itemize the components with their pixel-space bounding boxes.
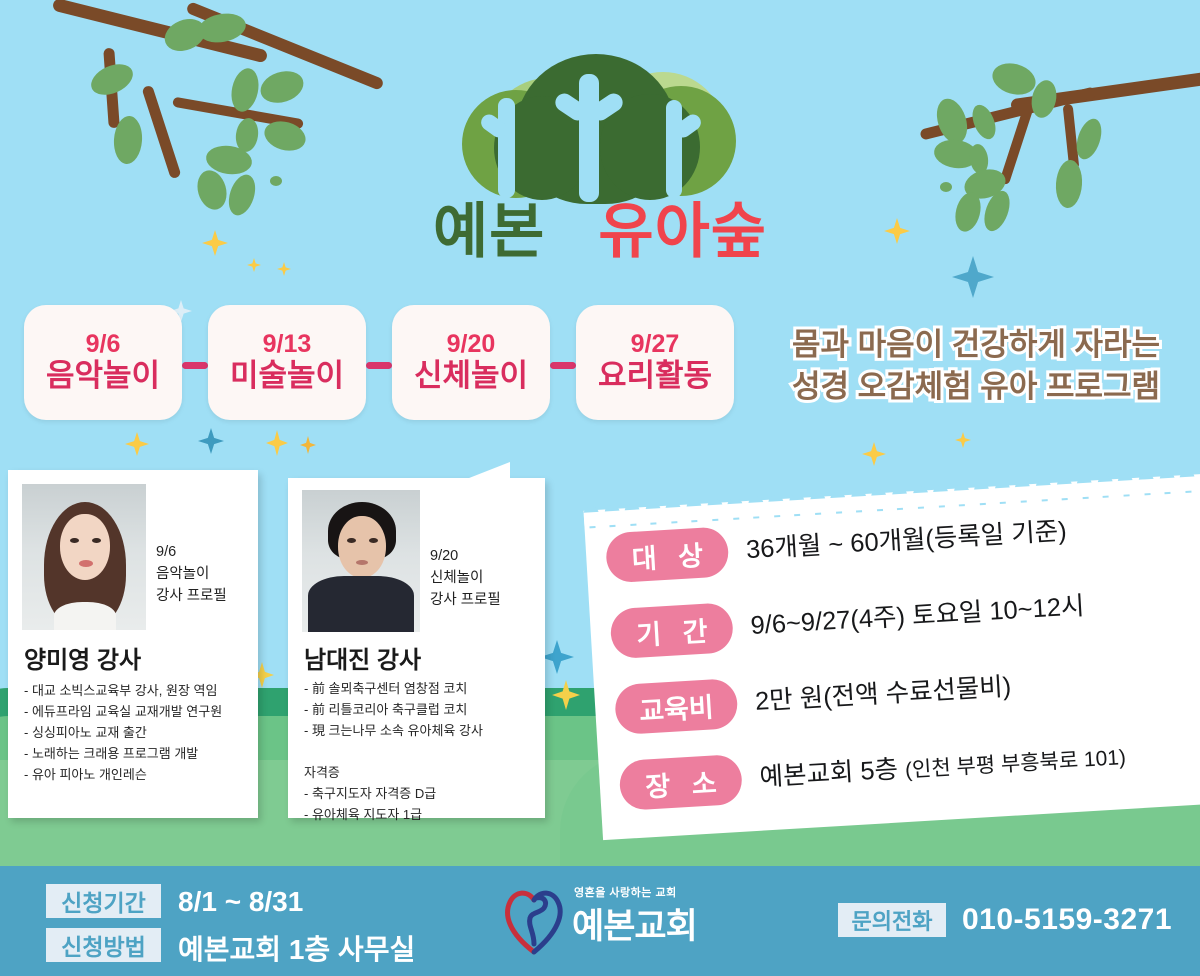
schedule-card-date: 9/13 [263, 332, 312, 357]
info-label-place: 장 소 [618, 754, 743, 811]
apply-period-label: 신청기간 [46, 884, 161, 918]
heart-cross-icon [500, 880, 570, 958]
tagline-line-2: 성경 오감체험 유아 프로그램 [770, 366, 1182, 408]
instructor-subject: 신체놀이 [430, 568, 534, 590]
sparkle-icon [247, 258, 261, 272]
info-label-fee: 교육비 [614, 678, 739, 735]
instructor-meta-1: 9/6 음악놀이 강사 프로필 [156, 542, 254, 607]
schedule-row: 9/6 음악놀이 9/13 미술놀이 9/20 신체놀이 9/27 요리활동 [24, 305, 736, 420]
apply-method-label: 신청방법 [46, 928, 161, 962]
schedule-card-date: 9/27 [631, 332, 680, 357]
sparkle-icon [540, 640, 574, 674]
instructor-bullets-1: - 대교 소빅스교육부 강사, 원장 역임 - 에듀프라임 교육실 교재개발 연… [24, 680, 248, 785]
sparkle-icon [125, 432, 149, 456]
schedule-card[interactable]: 9/13 미술놀이 [208, 305, 366, 420]
schedule-card[interactable]: 9/27 요리활동 [576, 305, 734, 420]
sparkle-icon [198, 428, 224, 454]
poster-canvas: 예본 유아숲 9/6 음악놀이 9/13 미술놀이 9/20 신체놀이 9/27… [0, 0, 1200, 976]
instructor-card-2[interactable]: 9/20 신체놀이 강사 프로필 남대진 강사 - 前 솔뫼축구센터 염창점 코… [288, 478, 545, 818]
logo-wordmark: 예본 유아숲 [430, 202, 770, 262]
photo-mouth [79, 560, 93, 567]
trunk-cutout-right [666, 100, 682, 198]
schedule-card-date: 9/20 [447, 332, 496, 357]
photo-body [54, 602, 116, 630]
info-value-period: 9/6~9/27(4주) 토요일 10~12시 [749, 585, 1085, 642]
tagline-line-1: 몸과 마음이 건강하게 자라는 [770, 324, 1182, 366]
info-value-place: 예본교회 5층 (인천 부평 부흥북로 101) [758, 735, 1126, 794]
instructor-date: 9/6 [156, 542, 254, 564]
instructor-photo-2 [302, 490, 420, 632]
apply-method-value: 예본교회 1층 사무실 [178, 928, 415, 968]
place-main: 예본교회 5층 [759, 756, 899, 792]
photo-body [308, 576, 414, 632]
info-value-fee: 2만 원(전액 수료선물비) [754, 666, 1012, 718]
connector-line [550, 362, 576, 369]
place-address: (인천 부평 부흥북로 101) [904, 746, 1126, 782]
info-panel: 대 상 36개월 ~ 60개월(등록일 기준) 기 간 9/6~9/27(4주)… [560, 411, 1200, 871]
connector-line [182, 362, 208, 369]
instructor-card-1[interactable]: 9/6 음악놀이 강사 프로필 양미영 강사 - 대교 소빅스교육부 강사, 원… [8, 470, 258, 818]
trunk-cutout-left [498, 98, 515, 198]
instructor-meta-2: 9/20 신체놀이 강사 프로필 [430, 546, 534, 611]
instructor-role-label: 강사 프로필 [430, 590, 534, 612]
logo-word-green: 예본 [433, 198, 545, 265]
logo-word-red: 유아숲 [598, 198, 767, 265]
trunk-cutout-center [579, 74, 599, 202]
photo-face [60, 514, 110, 580]
instructor-name-1: 양미영 강사 [24, 640, 141, 675]
info-value-target: 36개월 ~ 60개월(등록일 기준) [745, 510, 1068, 566]
schedule-card-title: 음악놀이 [46, 360, 160, 393]
tagline: 몸과 마음이 건강하게 자라는 성경 오감체험 유아 프로그램 [770, 324, 1182, 408]
phone-label: 문의전화 [838, 903, 946, 937]
church-name: 예본교회 [572, 898, 697, 949]
instructor-bullets-2: - 前 솔뫼축구센터 염창점 코치 - 前 리틀코리아 축구클럽 코치 - 現 … [304, 678, 534, 825]
sparkle-icon [300, 436, 316, 454]
schedule-card[interactable]: 9/20 신체놀이 [392, 305, 550, 420]
photo-eye [70, 538, 79, 543]
schedule-card-title: 미술놀이 [230, 360, 344, 393]
instructor-photo-1 [22, 484, 146, 630]
card-corner-flap [464, 462, 510, 480]
connector-line [366, 362, 392, 369]
photo-face [338, 516, 386, 578]
instructor-date: 9/20 [430, 546, 534, 568]
instructor-name-2: 남대진 강사 [304, 640, 421, 675]
church-logo: 영혼을 사랑하는 교회 예본교회 [500, 878, 710, 960]
phone-value[interactable]: 010-5159-3271 [962, 903, 1172, 937]
info-label-period: 기 간 [609, 602, 734, 659]
photo-mouth [356, 560, 368, 565]
photo-eye [92, 538, 101, 543]
schedule-card[interactable]: 9/6 음악놀이 [24, 305, 182, 420]
sparkle-icon [884, 218, 910, 244]
schedule-card-title: 신체놀이 [414, 360, 528, 393]
sparkle-icon [952, 256, 994, 298]
schedule-card-title: 요리활동 [598, 360, 712, 393]
sparkle-icon [266, 430, 288, 456]
sparkle-icon [277, 262, 291, 276]
schedule-card-date: 9/6 [86, 332, 121, 357]
branch-right-decoration [900, 60, 1200, 260]
instructor-role-label: 강사 프로필 [156, 586, 254, 608]
program-logo: 예본 유아숲 [430, 26, 770, 291]
photo-eye [347, 538, 356, 543]
info-label-target: 대 상 [605, 526, 730, 583]
apply-period-value: 8/1 ~ 8/31 [178, 886, 303, 918]
info-rows: 대 상 36개월 ~ 60개월(등록일 기준) 기 간 9/6~9/27(4주)… [605, 490, 1200, 831]
instructor-subject: 음악놀이 [156, 564, 254, 586]
photo-eye [369, 538, 378, 543]
sparkle-icon [202, 230, 228, 256]
